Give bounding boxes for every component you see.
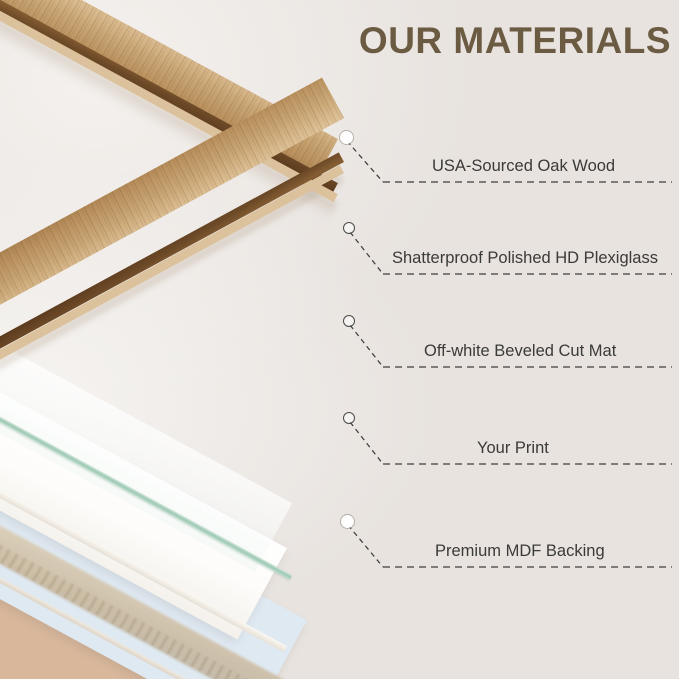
page-title: OUR MATERIALS [359, 20, 671, 62]
infographic-canvas: OUR MATERIALS USA-Sourced Oak WoodShatte… [0, 0, 679, 679]
